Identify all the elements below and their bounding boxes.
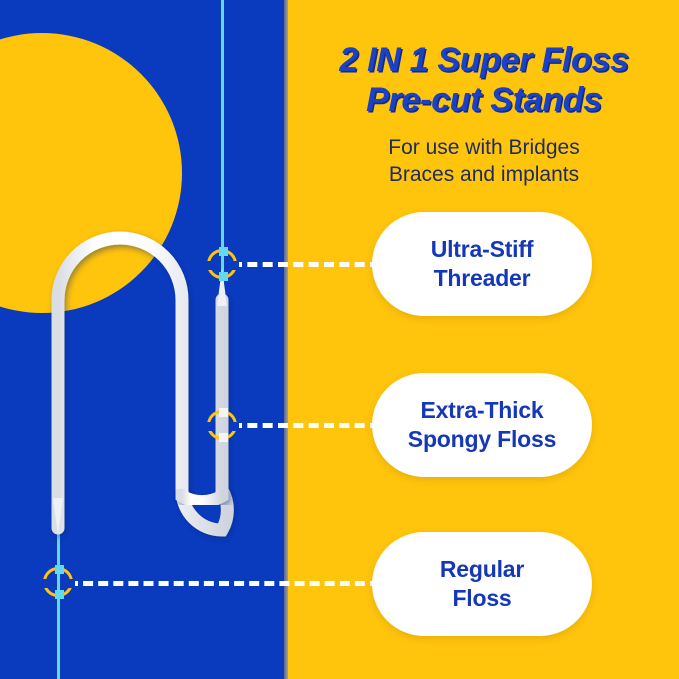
connector-line-spongy-floss [232,423,380,428]
ring-gap-top [55,565,64,574]
connector-line-regular-floss [68,581,380,586]
connector-line-threader [232,262,380,267]
page-subtitle: For use with Bridges Braces and implants [292,134,676,188]
ring-gap-left [205,261,214,270]
page-title: 2 IN 1 Super Floss Pre-cut Stands [292,40,676,120]
ring-gap-top [219,247,228,256]
product-infographic: 2 IN 1 Super Floss Pre-cut Stands For us… [0,0,679,679]
header-block: 2 IN 1 Super Floss Pre-cut Stands For us… [292,40,676,188]
ring-gap-bottom [219,433,228,442]
callout-label-regular-floss: Regular Floss [440,555,524,613]
ring-gap-right [66,579,75,588]
ring-marker-spongy-floss [207,410,237,440]
ring-gap-left [205,422,214,431]
ring-gap-right [230,261,239,270]
callout-pill-regular-floss[interactable]: Regular Floss [372,532,592,636]
ring-gap-bottom [55,590,64,599]
ring-gap-right [230,422,239,431]
callout-pill-threader[interactable]: Ultra-Stiff Threader [372,212,592,316]
ring-gap-left [41,579,50,588]
cyan-strand-top [221,0,224,288]
ring-marker-threader [207,249,237,279]
ring-marker-regular-floss [43,567,73,597]
callout-pill-spongy-floss[interactable]: Extra-Thick Spongy Floss [372,373,592,477]
callout-label-spongy-floss: Extra-Thick Spongy Floss [408,396,556,454]
ring-gap-top [219,408,228,417]
ring-gap-bottom [219,272,228,281]
callout-label-threader: Ultra-Stiff Threader [431,235,534,293]
